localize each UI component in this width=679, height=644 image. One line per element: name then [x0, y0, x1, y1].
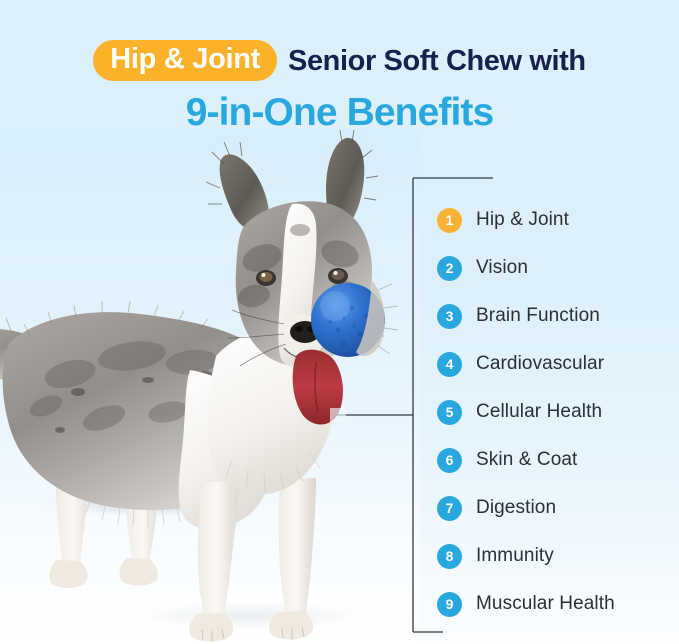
list-item[interactable]: 2 Vision	[437, 244, 679, 292]
benefit-number-2: 2	[437, 256, 462, 281]
benefit-number-3: 3	[437, 304, 462, 329]
hip-and-joint-badge: Hip & Joint	[93, 40, 277, 81]
title-line-primary: Hip & JointSenior Soft Chew with	[0, 40, 679, 82]
benefit-label-8: Immunity	[476, 545, 554, 567]
benefit-label-5: Cellular Health	[476, 401, 602, 423]
benefit-label-1: Hip & Joint	[476, 209, 569, 231]
benefit-number-7: 7	[437, 496, 462, 521]
benefit-label-9: Muscular Health	[476, 593, 615, 615]
list-item[interactable]: 1 Hip & Joint	[437, 196, 679, 244]
benefit-number-8: 8	[437, 544, 462, 569]
benefit-label-3: Brain Function	[476, 305, 600, 327]
benefit-label-6: Skin & Coat	[476, 449, 577, 471]
benefit-number-9: 9	[437, 592, 462, 617]
benefit-label-4: Cardiovascular	[476, 353, 604, 375]
benefits-list: 1 Hip & Joint 2 Vision 3 Brain Function …	[437, 196, 679, 628]
list-item[interactable]: 4 Cardiovascular	[437, 340, 679, 388]
list-item[interactable]: 8 Immunity	[437, 532, 679, 580]
benefit-number-1: 1	[437, 208, 462, 233]
list-item[interactable]: 6 Skin & Coat	[437, 436, 679, 484]
page-title: Senior Soft Chew with	[288, 40, 586, 82]
benefit-number-5: 5	[437, 400, 462, 425]
dog-photo	[0, 130, 420, 644]
page-subtitle: 9-in-One Benefits	[0, 90, 679, 136]
list-item[interactable]: 7 Digestion	[437, 484, 679, 532]
list-item[interactable]: 9 Muscular Health	[437, 580, 679, 628]
benefit-label-2: Vision	[476, 257, 528, 279]
benefit-label-7: Digestion	[476, 497, 556, 519]
product-benefits-poster: Hip & JointSenior Soft Chew with 9-in-On…	[0, 0, 679, 644]
benefit-number-6: 6	[437, 448, 462, 473]
benefit-number-4: 4	[437, 352, 462, 377]
list-item[interactable]: 3 Brain Function	[437, 292, 679, 340]
list-item[interactable]: 5 Cellular Health	[437, 388, 679, 436]
poster-header: Hip & JointSenior Soft Chew with 9-in-On…	[0, 0, 679, 145]
